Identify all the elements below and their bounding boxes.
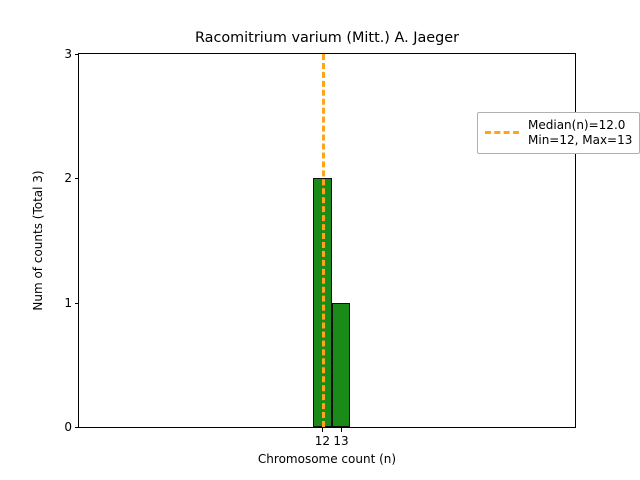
xtick-label-12: 12	[315, 434, 330, 448]
ytick-label-0: 0	[64, 420, 72, 434]
legend-label-median: Median(n)=12.0	[528, 118, 632, 132]
plot-area: 0 1 2 3 12 13 Median(n)=12.0	[78, 53, 576, 428]
ytick-mark-0	[75, 427, 80, 428]
ytick-mark-3	[75, 54, 80, 55]
ytick-label-2: 2	[64, 171, 72, 185]
xtick-mark-12	[322, 427, 323, 432]
data-layer	[79, 54, 575, 427]
xtick-mark-13	[341, 427, 342, 432]
legend-label-minmax: Min=12, Max=13	[528, 133, 632, 147]
ytick-label-1: 1	[64, 296, 72, 310]
chart-title: Racomitrium varium (Mitt.) A. Jaeger	[78, 30, 576, 47]
ytick-mark-2	[75, 178, 80, 179]
legend-dashed-line-icon	[485, 131, 519, 134]
legend: Median(n)=12.0 Min=12, Max=13	[477, 112, 640, 154]
legend-text-group: Median(n)=12.0 Min=12, Max=13	[528, 118, 632, 147]
ytick-mark-1	[75, 303, 80, 304]
xtick-label-13: 13	[333, 434, 348, 448]
figure-canvas: Racomitrium varium (Mitt.) A. Jaeger 0 1…	[0, 0, 640, 480]
median-line	[322, 54, 325, 427]
y-axis-label: Num of counts (Total 3)	[31, 53, 49, 428]
ytick-label-3: 3	[64, 47, 72, 61]
legend-row: Median(n)=12.0 Min=12, Max=13	[485, 118, 632, 147]
x-axis-label: Chromosome count (n)	[78, 452, 576, 466]
bar-13[interactable]	[332, 303, 351, 427]
